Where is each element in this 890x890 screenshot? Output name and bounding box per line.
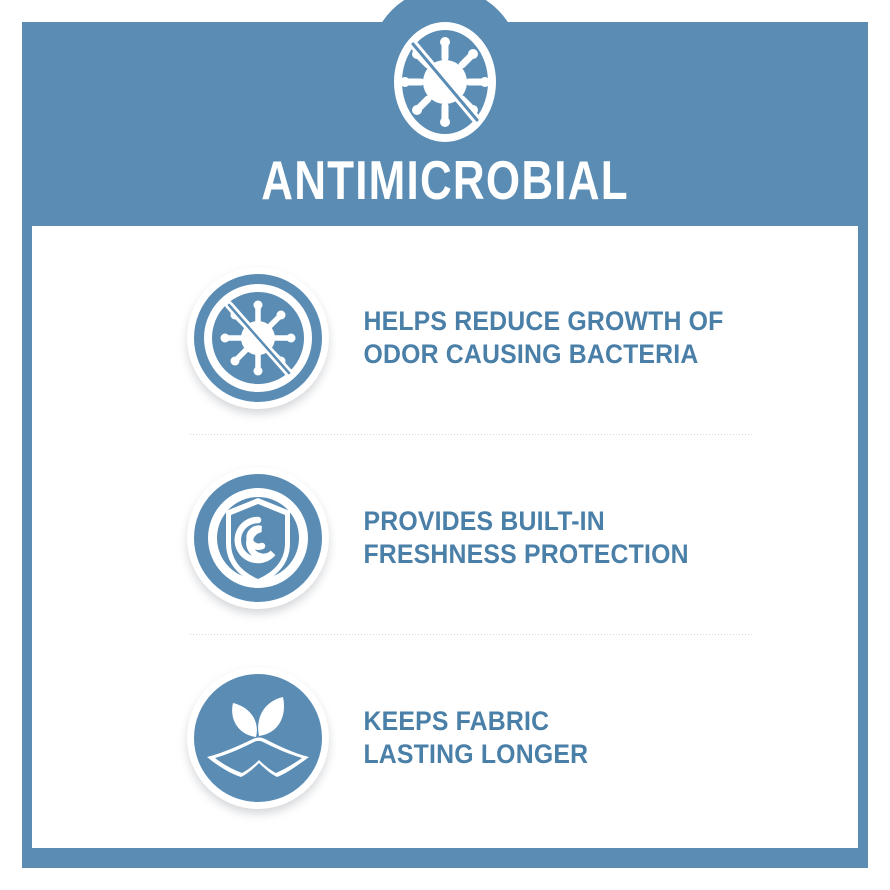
no-germ-icon — [381, 18, 509, 146]
blue-panel: ANTIMICROBIAL — [22, 22, 868, 868]
infographic-page: ANTIMICROBIAL — [0, 0, 890, 890]
list-item: KEEPS FABRIC LASTING LONGER — [182, 648, 782, 828]
list-item-label: KEEPS FABRIC LASTING LONGER — [334, 705, 746, 771]
list-item: PROVIDES BUILT-IN FRESHNESS PROTECTION — [182, 448, 782, 628]
no-germ-circle-icon — [182, 262, 334, 414]
list-item-label: HELPS REDUCE GROWTH OF ODOR CAUSING BACT… — [334, 305, 746, 371]
header: ANTIMICROBIAL — [22, 22, 868, 226]
list-item: HELPS REDUCE GROWTH OF ODOR CAUSING BACT… — [182, 248, 782, 428]
shield-freshness-icon — [182, 462, 334, 614]
divider — [190, 434, 752, 435]
features-card: HELPS REDUCE GROWTH OF ODOR CAUSING BACT… — [32, 226, 858, 848]
divider — [190, 634, 752, 635]
list-item-label: PROVIDES BUILT-IN FRESHNESS PROTECTION — [334, 505, 746, 571]
page-title: ANTIMICROBIAL — [107, 150, 784, 210]
leaf-fabric-icon — [182, 662, 334, 814]
features-list: HELPS REDUCE GROWTH OF ODOR CAUSING BACT… — [32, 226, 858, 848]
